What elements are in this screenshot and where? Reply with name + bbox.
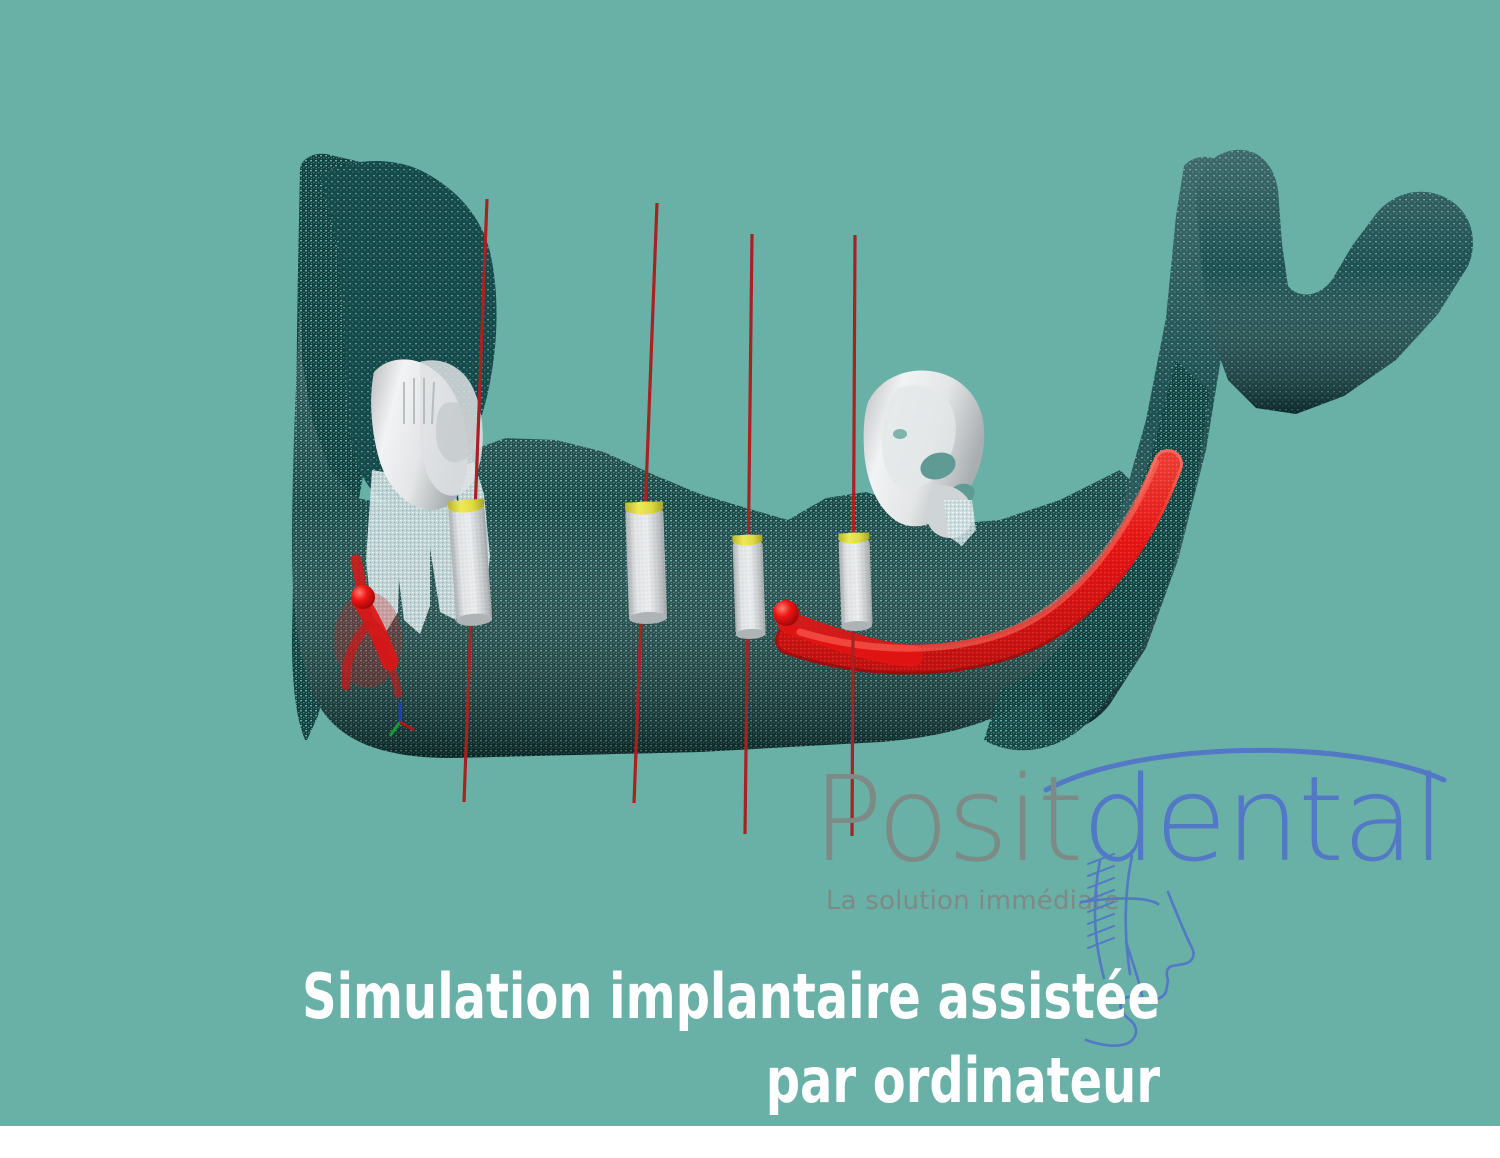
screenshot-root: Positdental La solution immédiate [0,0,1500,1158]
page-title: Simulation implantaire assistée par ordi… [162,955,1160,1123]
implant-4[interactable] [838,532,873,632]
implant-2[interactable] [625,501,667,625]
logo-tagline: La solution immédiate [826,886,1120,916]
nerve-exit-marker-left [351,585,375,609]
caption-line-1: Simulation implantaire assistée [162,955,1160,1039]
positdental-logo: Positdental La solution immédiate [812,738,1472,938]
teal-panel: Positdental La solution immédiate [0,0,1500,1126]
implant-3[interactable] [732,534,766,639]
nerve-exit-marker-right [773,600,799,626]
caption-line-2: par ordinateur [162,1039,1160,1123]
logo-word-posit: Posit [812,750,1082,888]
